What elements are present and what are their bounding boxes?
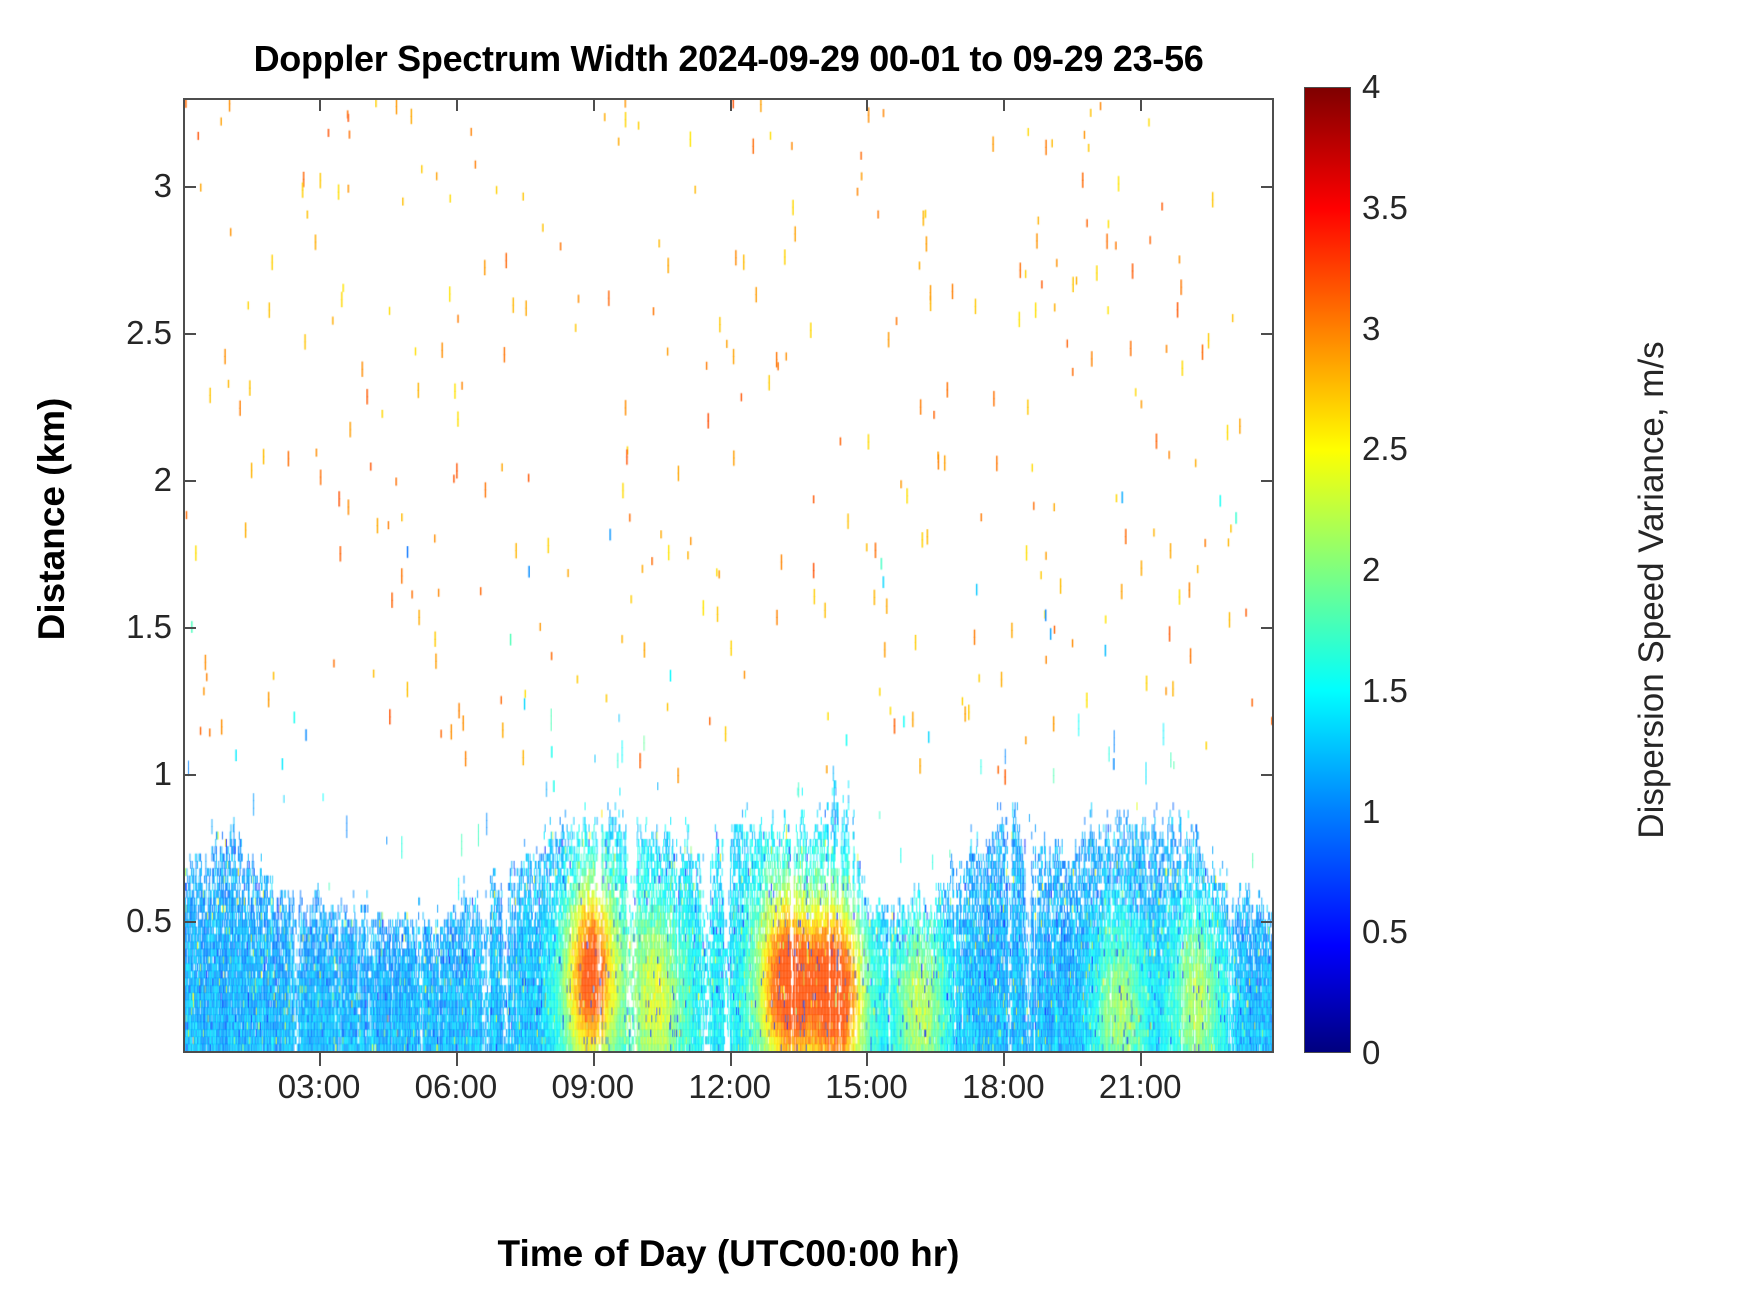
colorbar-tick-label: 0 [1362, 1034, 1380, 1072]
x-axis-tick [730, 1053, 732, 1066]
axes-plot-area[interactable] [183, 98, 1274, 1053]
colorbar-tick-label: 2 [1362, 551, 1380, 589]
x-axis-tick-label: 03:00 [278, 1068, 361, 1106]
x-axis-tick [1140, 98, 1142, 111]
colorbar-tick-label: 3.5 [1362, 189, 1408, 227]
x-axis-tick-label: 06:00 [415, 1068, 498, 1106]
y-axis-label: Distance (km) [31, 349, 73, 689]
x-axis-tick [593, 1053, 595, 1066]
x-axis-tick-label: 09:00 [551, 1068, 634, 1106]
colorbar-tick-label: 3 [1362, 310, 1380, 348]
y-axis-tick-label: 3 [154, 167, 172, 205]
y-axis-tick [183, 921, 196, 923]
colorbar-tick-label: 1.5 [1362, 672, 1408, 710]
y-axis-tick-label: 1 [154, 755, 172, 793]
y-axis-tick-label: 2 [154, 461, 172, 499]
x-axis-tick [593, 98, 595, 111]
x-axis-tick [866, 98, 868, 111]
x-axis-tick [319, 98, 321, 111]
figure-root: Doppler Spectrum Width 2024-09-29 00-01 … [0, 0, 1750, 1313]
x-axis-label: Time of Day (UTC00:00 hr) [183, 1233, 1274, 1275]
y-axis-tick [183, 186, 196, 188]
y-axis-tick [1261, 333, 1274, 335]
x-axis-tick [866, 1053, 868, 1066]
colorbar[interactable] [1304, 87, 1351, 1053]
y-axis-tick [1261, 921, 1274, 923]
y-axis-tick-label: 1.5 [126, 608, 172, 646]
x-axis-tick [456, 98, 458, 111]
colorbar-tick-label: 4 [1362, 68, 1380, 106]
y-axis-tick [1261, 480, 1274, 482]
y-axis-tick [183, 480, 196, 482]
x-axis-tick [1003, 1053, 1005, 1066]
x-axis-tick [456, 1053, 458, 1066]
heatmap-canvas[interactable] [185, 100, 1272, 1051]
colorbar-label: Dispersion Speed Variance, m/s [1632, 270, 1672, 910]
x-axis-tick-label: 18:00 [962, 1068, 1045, 1106]
x-axis-tick [319, 1053, 321, 1066]
y-axis-tick [1261, 774, 1274, 776]
y-axis-tick [183, 774, 196, 776]
y-axis-tick-label: 0.5 [126, 902, 172, 940]
x-axis-tick-label: 12:00 [688, 1068, 771, 1106]
y-axis-tick [183, 333, 196, 335]
x-axis-tick [1003, 98, 1005, 111]
y-axis-tick [1261, 627, 1274, 629]
x-axis-tick [730, 98, 732, 111]
x-axis-tick-label: 21:00 [1099, 1068, 1182, 1106]
colorbar-gradient [1305, 88, 1350, 1052]
colorbar-tick-label: 2.5 [1362, 430, 1408, 468]
colorbar-tick-label: 1 [1362, 793, 1380, 831]
y-axis-tick-label: 2.5 [126, 314, 172, 352]
y-axis-tick [1261, 186, 1274, 188]
plot-title: Doppler Spectrum Width 2024-09-29 00-01 … [183, 38, 1274, 80]
y-axis-tick [183, 627, 196, 629]
x-axis-tick-label: 15:00 [825, 1068, 908, 1106]
colorbar-tick-label: 0.5 [1362, 913, 1408, 951]
x-axis-tick [1140, 1053, 1142, 1066]
